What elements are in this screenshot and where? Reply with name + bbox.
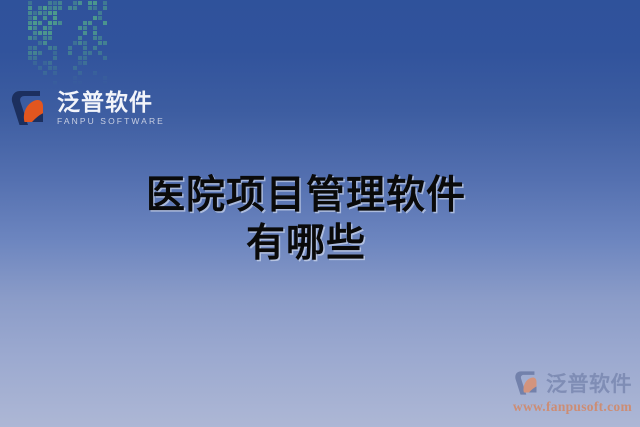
page-title: 医院项目管理软件 有哪些 bbox=[0, 172, 640, 267]
page-title-line-1: 医院项目管理软件 bbox=[0, 172, 640, 220]
slide-canvas: 泛普软件 FANPU SOFTWARE 医院项目管理软件 有哪些 泛普软件 ww… bbox=[0, 0, 640, 427]
brand-name-cn: 泛普软件 bbox=[57, 91, 165, 114]
watermark-brand-row: 泛普软件 bbox=[482, 368, 632, 398]
watermark: 泛普软件 www.fanpusoft.com bbox=[482, 368, 632, 415]
skyline-tower-right bbox=[28, 0, 63, 86]
page-title-line-2: 有哪些 bbox=[0, 220, 640, 268]
fanpu-swoosh-logo-icon bbox=[10, 88, 54, 128]
pixel-skyline-icon bbox=[28, 0, 158, 86]
brand-name-en: FANPU SOFTWARE bbox=[57, 117, 165, 126]
watermark-brand-name: 泛普软件 bbox=[546, 368, 632, 398]
fanpu-swoosh-logo-icon bbox=[514, 369, 544, 397]
skyline-tower-middle bbox=[68, 0, 108, 86]
watermark-url: www.fanpusoft.com bbox=[482, 399, 632, 415]
brand-text-block: 泛普软件 FANPU SOFTWARE bbox=[57, 91, 165, 126]
brand-logo: 泛普软件 FANPU SOFTWARE bbox=[10, 84, 160, 132]
skyline-tower-left bbox=[28, 6, 58, 86]
